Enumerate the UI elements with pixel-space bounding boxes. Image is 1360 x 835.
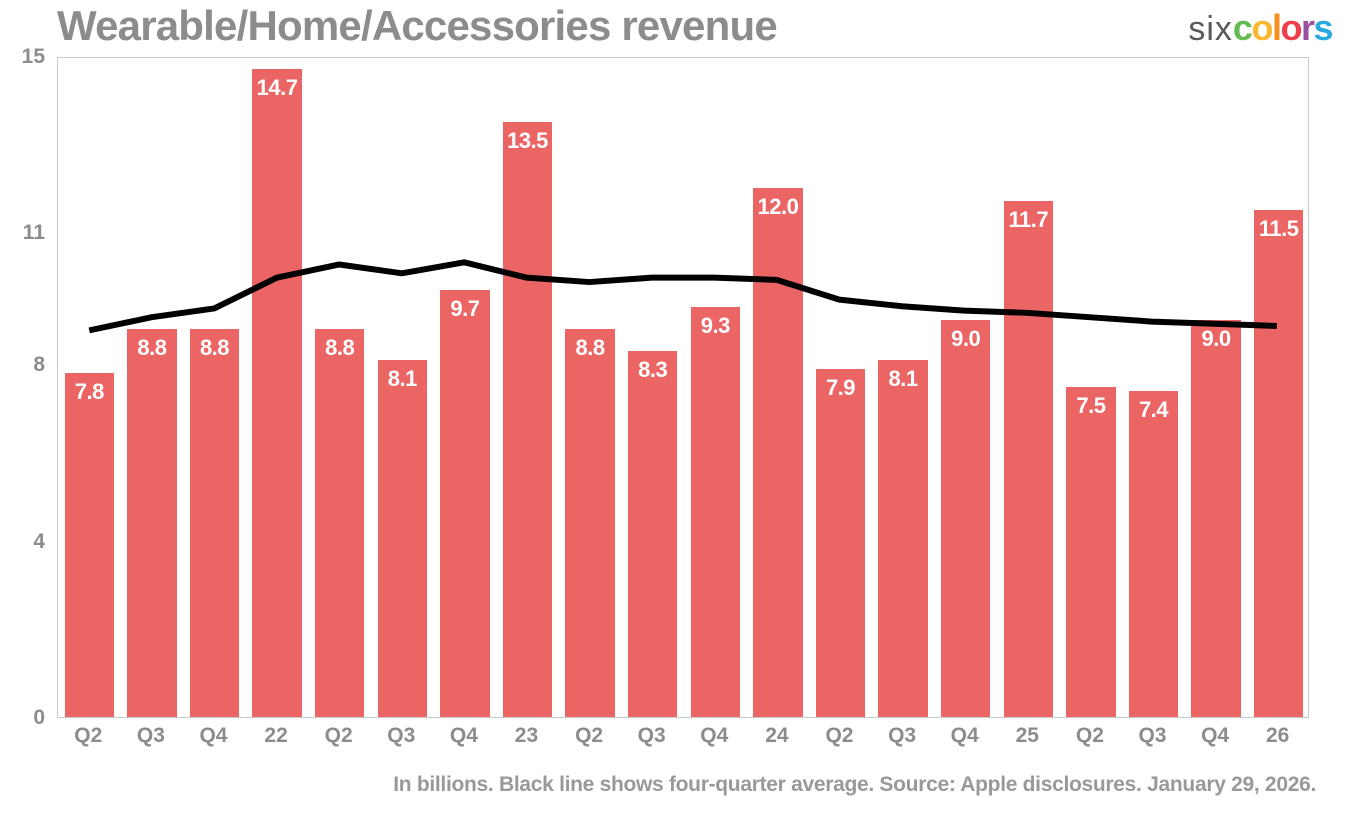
y-axis-tick-label: 4 — [33, 531, 45, 553]
bar-value-label: 9.3 — [691, 313, 740, 339]
logo-colors-text: colors — [1233, 7, 1332, 48]
bar: 11.7 — [1004, 201, 1053, 717]
x-axis-tick-label: Q3 — [620, 722, 683, 750]
x-axis-tick-label: Q4 — [683, 722, 746, 750]
chart-root: Wearable/Home/Accessories revenue sixcol… — [0, 0, 1360, 835]
bar: 8.1 — [878, 360, 927, 717]
bar-value-label: 7.8 — [65, 379, 114, 405]
chart-header: Wearable/Home/Accessories revenue sixcol… — [0, 0, 1360, 56]
bar-value-label: 8.8 — [565, 335, 614, 361]
bar: 9.3 — [691, 307, 740, 717]
x-axis-tick-label: 26 — [1246, 722, 1309, 750]
x-axis-tick-label: Q4 — [433, 722, 496, 750]
bar-value-label: 9.0 — [941, 326, 990, 352]
bar-value-label: 13.5 — [503, 128, 552, 154]
bar: 8.8 — [190, 329, 239, 717]
x-axis-tick-label: Q3 — [871, 722, 934, 750]
bar: 9.7 — [440, 290, 489, 717]
y-axis-tick-label: 8 — [33, 354, 45, 376]
chart-caption: In billions. Black line shows four-quart… — [0, 772, 1316, 798]
y-axis-tick-label: 15 — [22, 46, 45, 68]
x-axis-tick-label: Q3 — [1121, 722, 1184, 750]
x-axis-tick-label: Q4 — [933, 722, 996, 750]
bar-value-label: 8.3 — [628, 357, 677, 383]
bar-value-label: 8.8 — [315, 335, 364, 361]
bar: 11.5 — [1254, 210, 1303, 717]
bar-value-label: 8.8 — [190, 335, 239, 361]
x-axis-tick-label: Q3 — [370, 722, 433, 750]
bar-value-label: 8.8 — [127, 335, 176, 361]
bar-value-label: 14.7 — [252, 75, 301, 101]
bars-layer: 7.88.88.814.78.88.19.713.58.88.39.312.07… — [58, 58, 1308, 717]
bar-value-label: 8.1 — [378, 366, 427, 392]
sixcolors-logo: sixcolors — [1188, 8, 1332, 49]
x-axis-tick-label: Q3 — [120, 722, 183, 750]
bar-value-label: 11.7 — [1004, 207, 1053, 233]
bar-value-label: 7.5 — [1066, 393, 1115, 419]
bar-value-label: 7.9 — [816, 375, 865, 401]
bar-value-label: 11.5 — [1254, 216, 1303, 242]
bar: 8.8 — [315, 329, 364, 717]
x-axis-tick-label: Q2 — [307, 722, 370, 750]
bar: 9.0 — [941, 320, 990, 717]
x-axis-tick-label: Q4 — [1184, 722, 1247, 750]
x-axis-tick-label: 23 — [495, 722, 558, 750]
bar: 7.5 — [1066, 387, 1115, 718]
x-axis-tick-label: Q4 — [182, 722, 245, 750]
bar: 8.3 — [628, 351, 677, 717]
y-axis-tick-label: 0 — [33, 707, 45, 729]
x-axis-tick-label: Q2 — [1059, 722, 1122, 750]
bar: 7.4 — [1129, 391, 1178, 717]
x-axis-tick-label: Q2 — [558, 722, 621, 750]
x-axis-tick-label: 24 — [746, 722, 809, 750]
bar: 7.8 — [65, 373, 114, 717]
bar: 12.0 — [753, 188, 802, 717]
logo-letter: c — [1233, 7, 1252, 48]
y-axis-tick-label: 11 — [23, 222, 45, 244]
bar: 7.9 — [816, 369, 865, 717]
bar: 8.1 — [378, 360, 427, 717]
logo-letter: s — [1313, 7, 1332, 48]
bar: 8.8 — [127, 329, 176, 717]
bar-value-label: 9.7 — [440, 296, 489, 322]
logo-six-text: six — [1188, 10, 1233, 48]
logo-letter: o — [1280, 7, 1301, 48]
bar: 8.8 — [565, 329, 614, 717]
bar-value-label: 7.4 — [1129, 397, 1178, 423]
x-axis-tick-label: Q2 — [57, 722, 120, 750]
bar: 14.7 — [252, 69, 301, 717]
logo-letter: r — [1301, 7, 1314, 48]
bar: 9.0 — [1191, 320, 1240, 717]
x-axis-tick-label: 22 — [245, 722, 308, 750]
logo-letter: o — [1251, 7, 1272, 48]
plot-area: 7.88.88.814.78.88.19.713.58.88.39.312.07… — [57, 57, 1309, 718]
bar: 13.5 — [503, 122, 552, 717]
bar-value-label: 9.0 — [1191, 326, 1240, 352]
x-axis-tick-label: Q2 — [808, 722, 871, 750]
bar-value-label: 12.0 — [753, 194, 802, 220]
x-axis: Q2Q3Q422Q2Q3Q423Q2Q3Q424Q2Q3Q425Q2Q3Q426 — [57, 722, 1309, 756]
bar-value-label: 8.1 — [878, 366, 927, 392]
x-axis-tick-label: 25 — [996, 722, 1059, 750]
y-axis: 0481115 — [0, 0, 57, 835]
page-title: Wearable/Home/Accessories revenue — [57, 2, 777, 50]
